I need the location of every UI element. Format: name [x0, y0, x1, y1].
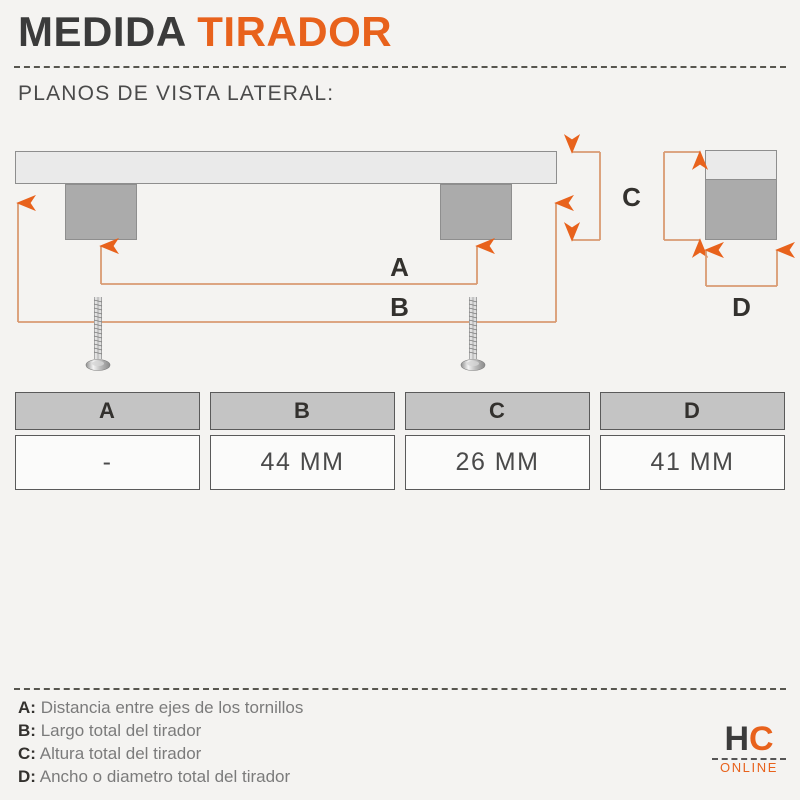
logo-letter-h: H [724, 720, 749, 758]
handle-leg-right-shape [440, 184, 512, 240]
handle-front-view-shape [705, 150, 777, 240]
table-header-a: A [15, 392, 200, 430]
table-value-d: 41 MM [600, 435, 785, 490]
legend-key-d: D: [18, 767, 36, 786]
table-column-c: C 26 MM [405, 392, 590, 490]
measurements-table: A - B 44 MM C 26 MM D 41 MM [15, 392, 785, 490]
legend-key-a: A: [18, 698, 36, 717]
legend-item-c: C: Altura total del tirador [18, 742, 303, 765]
brand-logo: HC ONLINE [712, 722, 786, 775]
table-column-a: A - [15, 392, 200, 490]
dimension-label-b: B [0, 292, 800, 323]
logo-letter-c: C [749, 720, 774, 758]
screw-left-icon [85, 297, 111, 375]
handle-leg-left-shape [65, 184, 137, 240]
legend-text-d: Ancho o diametro total del tirador [40, 767, 290, 786]
technical-drawing: A B C D [0, 0, 800, 390]
legend-text-c: Altura total del tirador [40, 744, 202, 763]
table-header-d: D [600, 392, 785, 430]
dimension-label-d: D [706, 292, 778, 323]
legend-item-d: D: Ancho o diametro total del tirador [18, 765, 303, 788]
front-view-top-section [706, 151, 776, 180]
table-header-c: C [405, 392, 590, 430]
table-header-b: B [210, 392, 395, 430]
table-column-d: D 41 MM [600, 392, 785, 490]
table-value-a: - [15, 435, 200, 490]
page-root: MEDIDA TIRADOR PLANOS DE VISTA LATERAL: [0, 0, 800, 800]
legend-text-b: Largo total del tirador [41, 721, 202, 740]
front-view-bottom-section [706, 180, 776, 239]
divider-bottom [14, 688, 786, 690]
logo-lettermark: HC [712, 722, 786, 756]
logo-subtitle: ONLINE [712, 761, 786, 775]
handle-bar-shape [15, 151, 557, 184]
legend-text-a: Distancia entre ejes de los tornillos [41, 698, 304, 717]
table-value-c: 26 MM [405, 435, 590, 490]
legend-item-a: A: Distancia entre ejes de los tornillos [18, 696, 303, 719]
table-value-b: 44 MM [210, 435, 395, 490]
legend: A: Distancia entre ejes de los tornillos… [18, 696, 303, 788]
legend-key-c: C: [18, 744, 36, 763]
dimension-label-c: C [612, 182, 652, 213]
screw-right-icon [460, 297, 486, 375]
dimension-label-a: A [0, 252, 800, 283]
legend-key-b: B: [18, 721, 36, 740]
table-column-b: B 44 MM [210, 392, 395, 490]
legend-item-b: B: Largo total del tirador [18, 719, 303, 742]
